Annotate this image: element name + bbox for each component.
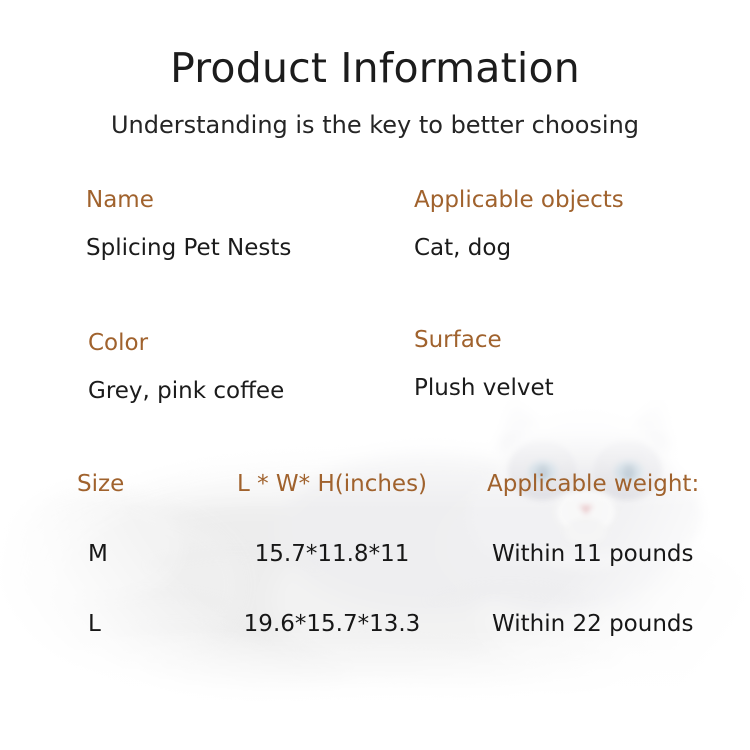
size-table-row-l: L 19.6*15.7*13.3 Within 22 pounds (0, 610, 750, 680)
content-layer: Product Information Understanding is the… (0, 0, 750, 750)
page-title: Product Information (0, 44, 750, 92)
size-table-row-m: M 15.7*11.8*11 Within 11 pounds (0, 540, 750, 610)
attribute-color-value: Grey, pink coffee (88, 376, 284, 406)
size-table-row-m-dimensions: 15.7*11.8*11 (222, 540, 442, 568)
size-table-header-dimensions: L * W* H(inches) (222, 470, 442, 498)
product-information-page: Product Information Understanding is the… (0, 0, 750, 750)
attribute-color: Color Grey, pink coffee (88, 328, 284, 406)
size-table: Size L * W* H(inches) Applicable weight:… (0, 470, 750, 680)
size-table-row-l-size: L (88, 610, 101, 638)
attribute-color-label: Color (88, 328, 284, 358)
size-table-row-m-weight: Within 11 pounds (492, 540, 694, 568)
attribute-surface-value: Plush velvet (414, 373, 554, 403)
page-subtitle: Understanding is the key to better choos… (0, 110, 750, 140)
attribute-applicable-objects-value: Cat, dog (414, 233, 624, 263)
size-table-row-l-dimensions: 19.6*15.7*13.3 (222, 610, 442, 638)
attribute-name-value: Splicing Pet Nests (86, 233, 291, 263)
size-table-header-weight: Applicable weight: (487, 470, 699, 498)
attribute-applicable-objects: Applicable objects Cat, dog (414, 185, 624, 263)
size-table-header-row: Size L * W* H(inches) Applicable weight: (0, 470, 750, 540)
attribute-applicable-objects-label: Applicable objects (414, 185, 624, 215)
attribute-surface-label: Surface (414, 325, 554, 355)
attribute-name: Name Splicing Pet Nests (86, 185, 291, 263)
attribute-name-label: Name (86, 185, 291, 215)
size-table-row-m-size: M (88, 540, 108, 568)
attribute-surface: Surface Plush velvet (414, 325, 554, 403)
size-table-header-size: Size (77, 470, 124, 498)
size-table-row-l-weight: Within 22 pounds (492, 610, 694, 638)
